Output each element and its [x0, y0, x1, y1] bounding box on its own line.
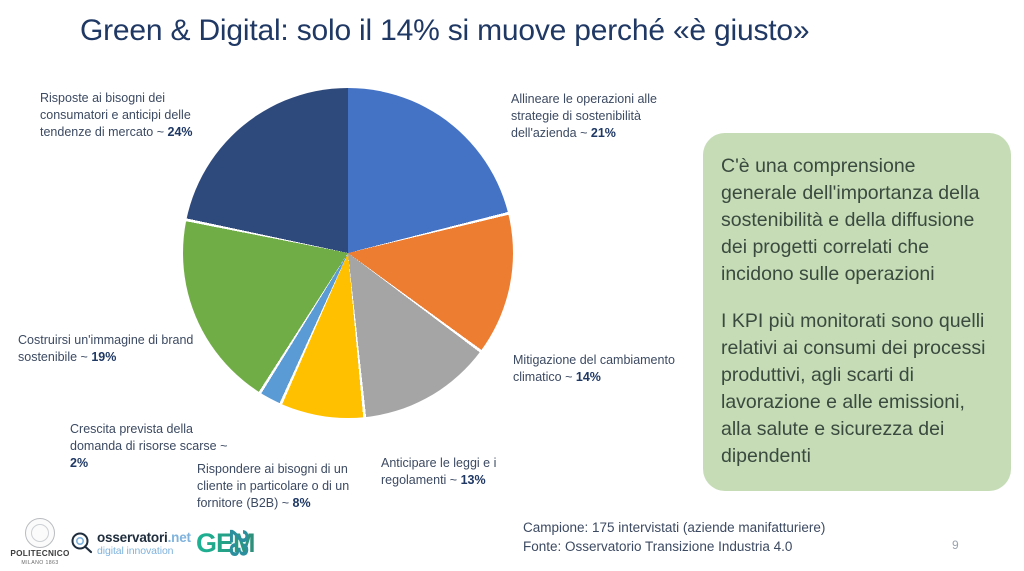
- pie-label-anticipare: Anticipare le leggi e i regolamenti ~ 13…: [381, 455, 541, 489]
- gem23-logo: GEM 23: [196, 528, 282, 562]
- osservatori-logo-tagline: digital innovation: [97, 545, 191, 558]
- pie-label-rispondere-pct: 8%: [293, 496, 311, 510]
- pie-label-allineare-text: Allineare le operazioni alle strategie d…: [511, 92, 657, 140]
- osservatori-logo-text: osservatori.net digital innovation: [97, 530, 191, 558]
- osservatori-logo-line1: osservatori.net: [97, 530, 191, 545]
- callout-paragraph-1: C'è una comprensione generale dell'impor…: [721, 153, 993, 288]
- pie-slices: [183, 88, 513, 418]
- politecnico-logo-subtitle: MILANO 1863: [6, 559, 74, 567]
- pie-label-mitigazione: Mitigazione del cambiamento climatico ~ …: [513, 352, 688, 386]
- pie-chart: [183, 88, 513, 418]
- politecnico-milano-logo: POLITECNICO MILANO 1863: [6, 518, 74, 568]
- pie-label-allineare-pct: 21%: [591, 126, 616, 140]
- source-origin-line: Fonte: Osservatorio Transizione Industri…: [523, 537, 825, 556]
- pie-label-brand: Costruirsi un'immagine di brand sostenib…: [18, 332, 208, 366]
- magnifier-icon: [70, 531, 94, 555]
- source-sample-line: Campione: 175 intervistati (aziende mani…: [523, 518, 825, 537]
- pie-label-crescita-pct: 2%: [70, 456, 88, 470]
- pie-label-brand-pct: 19%: [91, 350, 116, 364]
- politecnico-logo-name: POLITECNICO: [6, 549, 74, 559]
- politecnico-seal-icon: [25, 518, 55, 548]
- source-note: Campione: 175 intervistati (aziende mani…: [523, 518, 825, 556]
- osservatori-logo-main: osservatori: [97, 530, 168, 545]
- pie-label-consumatori-pct: 24%: [168, 125, 193, 139]
- pie-label-mitigazione-pct: 14%: [576, 370, 601, 384]
- pie-label-consumatori: Risposte ai bisogni dei consumatori e an…: [40, 90, 215, 141]
- page-number: 9: [952, 538, 959, 552]
- logo-bar: POLITECNICO MILANO 1863 osservatori.net …: [0, 516, 290, 571]
- osservatori-logo: osservatori.net digital innovation: [70, 529, 188, 559]
- osservatori-logo-domain: .net: [168, 530, 191, 545]
- callout-paragraph-2: I KPI più monitorati sono quelli relativ…: [721, 308, 993, 470]
- pie-label-crescita: Crescita prevista della domanda di risor…: [70, 421, 235, 472]
- pie-label-allineare: Allineare le operazioni alle strategie d…: [511, 91, 701, 142]
- pie-label-crescita-text: Crescita prevista della domanda di risor…: [70, 422, 227, 453]
- page-title: Green & Digital: solo il 14% si muove pe…: [80, 14, 960, 48]
- insight-callout-box: C'è una comprensione generale dell'impor…: [703, 133, 1011, 491]
- pie-label-anticipare-pct: 13%: [461, 473, 486, 487]
- gem-logo-year: 23: [225, 529, 253, 556]
